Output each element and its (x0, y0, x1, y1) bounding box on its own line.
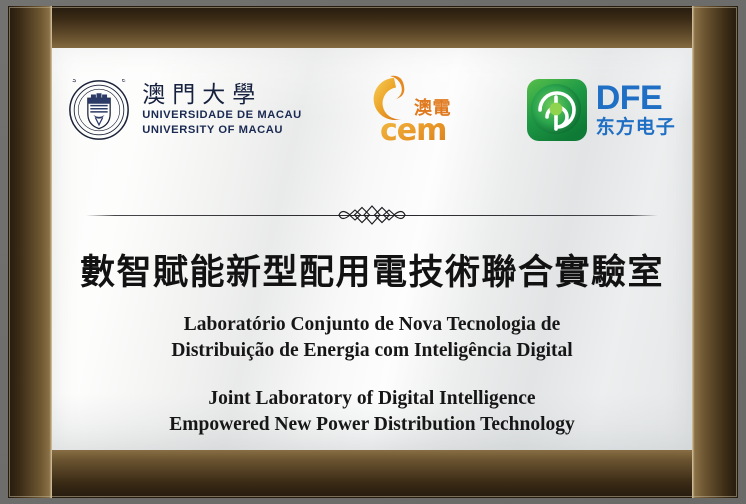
divider-top (86, 202, 658, 228)
um-wordmark: 澳門大學 UNIVERSIDADE DE MACAU UNIVERSITY OF… (142, 83, 301, 137)
um-name-en: UNIVERSITY OF MACAU (142, 123, 283, 137)
um-name-cn: 澳門大學 (142, 83, 262, 107)
logo-row: UNIVERSIDADE DE MACAU 澳門大學 (52, 62, 692, 158)
um-crest-icon: UNIVERSIDADE DE MACAU 澳門大學 (68, 79, 130, 141)
subtitle-en-line-2: Empowered New Power Distribution Technol… (102, 412, 642, 438)
frame-top-edge (8, 6, 738, 52)
frame-bottom-edge (8, 446, 738, 498)
dfe-wordmark: DFE 东方电子 (596, 82, 676, 138)
um-name-pt: UNIVERSIDADE DE MACAU (142, 108, 301, 122)
logo-cem: 澳電 cem (362, 70, 466, 150)
dfe-latin-text: DFE (596, 82, 663, 115)
plaque-panel: UNIVERSIDADE DE MACAU 澳門大學 (52, 48, 692, 450)
logo-university-of-macau: UNIVERSIDADE DE MACAU 澳門大學 (68, 79, 301, 141)
plaque-photo: UNIVERSIDADE DE MACAU 澳門大學 (0, 0, 746, 504)
wooden-frame: UNIVERSIDADE DE MACAU 澳門大學 (8, 6, 738, 498)
cem-swirl-icon: 澳電 cem (362, 70, 466, 150)
ornamental-divider-icon (333, 448, 411, 450)
subtitle-en-line-1: Joint Laboratory of Digital Intelligence (102, 386, 642, 412)
frame-right-edge (692, 6, 738, 498)
dfe-name-cn: 东方电子 (596, 117, 676, 138)
subtitle-pt-line-1: Laboratório Conjunto de Nova Tecnologia … (112, 312, 632, 338)
frame-left-edge (8, 6, 52, 498)
dfe-leaf-icon (526, 77, 588, 143)
subtitle-portuguese: Laboratório Conjunto de Nova Tecnologia … (112, 312, 632, 364)
ornamental-divider-icon (333, 202, 411, 228)
cem-wordmark: cem (380, 113, 446, 148)
divider-bottom (86, 448, 658, 450)
subtitle-pt-line-2: Distribuição de Energia com Inteligência… (112, 338, 632, 364)
page-title-cn: 數智賦能新型配用電技術聯合實驗室 (52, 244, 692, 295)
subtitle-english: Joint Laboratory of Digital Intelligence… (102, 386, 642, 438)
logo-dfe: DFE 东方电子 (526, 77, 676, 143)
